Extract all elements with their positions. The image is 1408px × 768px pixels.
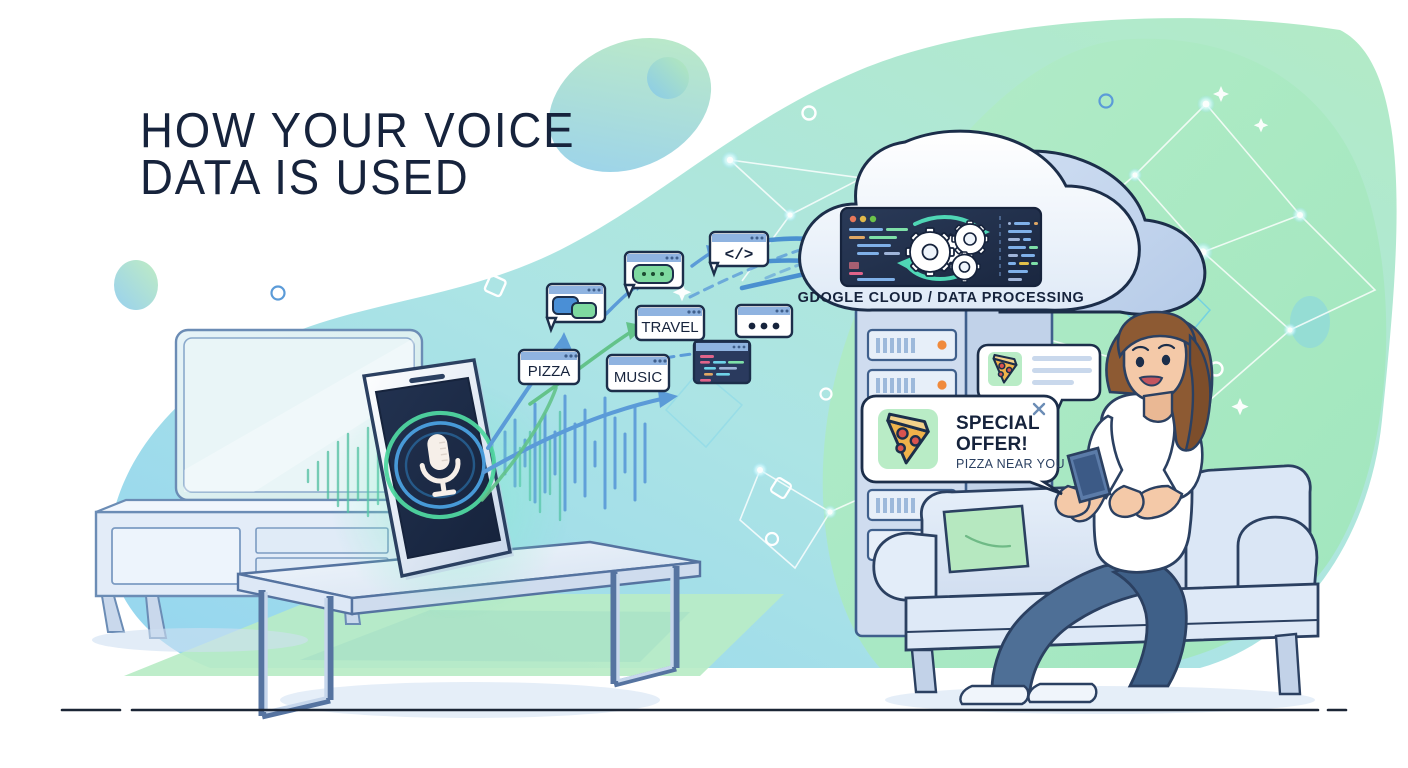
offer-heading-line1: SPECIAL xyxy=(956,413,1040,434)
tag-label-music: MUSIC xyxy=(614,369,663,386)
tag-card-code-window[interactable] xyxy=(694,341,750,383)
tag-card-travel[interactable]: TRAVEL xyxy=(636,306,704,340)
eye-right xyxy=(1162,355,1170,365)
offer-heading-line2: OFFER! xyxy=(956,434,1028,455)
decor-ring-1 xyxy=(272,287,285,300)
tag-card-pizza[interactable]: PIZZA xyxy=(519,350,579,384)
gear-main xyxy=(906,228,954,276)
decor-blob-left xyxy=(114,260,158,310)
code-angle-glyph: </> xyxy=(725,246,754,264)
tag-card-chat-bubbles[interactable] xyxy=(547,284,605,330)
cloud-code-panel xyxy=(841,208,1041,286)
special-offer-popup[interactable]: SPECIAL OFFER! PIZZA NEAR YOU xyxy=(862,396,1065,494)
tag-label-pizza: PIZZA xyxy=(528,363,571,380)
decor-blob-right xyxy=(1290,296,1330,348)
decor-circle-small xyxy=(647,57,689,99)
tag-card-music[interactable]: MUSIC xyxy=(607,355,669,391)
scene-svg: PIZZA MUSIC TRAVEL xyxy=(0,0,1408,768)
decor-ring-2 xyxy=(126,405,140,419)
tag-card-dots[interactable] xyxy=(736,305,792,337)
tag-label-travel: TRAVEL xyxy=(641,319,698,336)
offer-subtext: PIZZA NEAR YOU xyxy=(956,457,1065,471)
dots-glyph xyxy=(749,323,780,330)
gear-top xyxy=(952,221,988,257)
cloud-caption: GDOGLE CLOUD / DATA PROCESSING xyxy=(798,290,1085,306)
server-led xyxy=(937,340,946,349)
sofa-pillow xyxy=(944,506,1028,572)
eye-left xyxy=(1136,357,1144,367)
server-led xyxy=(937,380,946,389)
illustration-canvas: PIZZA MUSIC TRAVEL xyxy=(0,0,1408,768)
panel-window-dots xyxy=(850,216,876,222)
